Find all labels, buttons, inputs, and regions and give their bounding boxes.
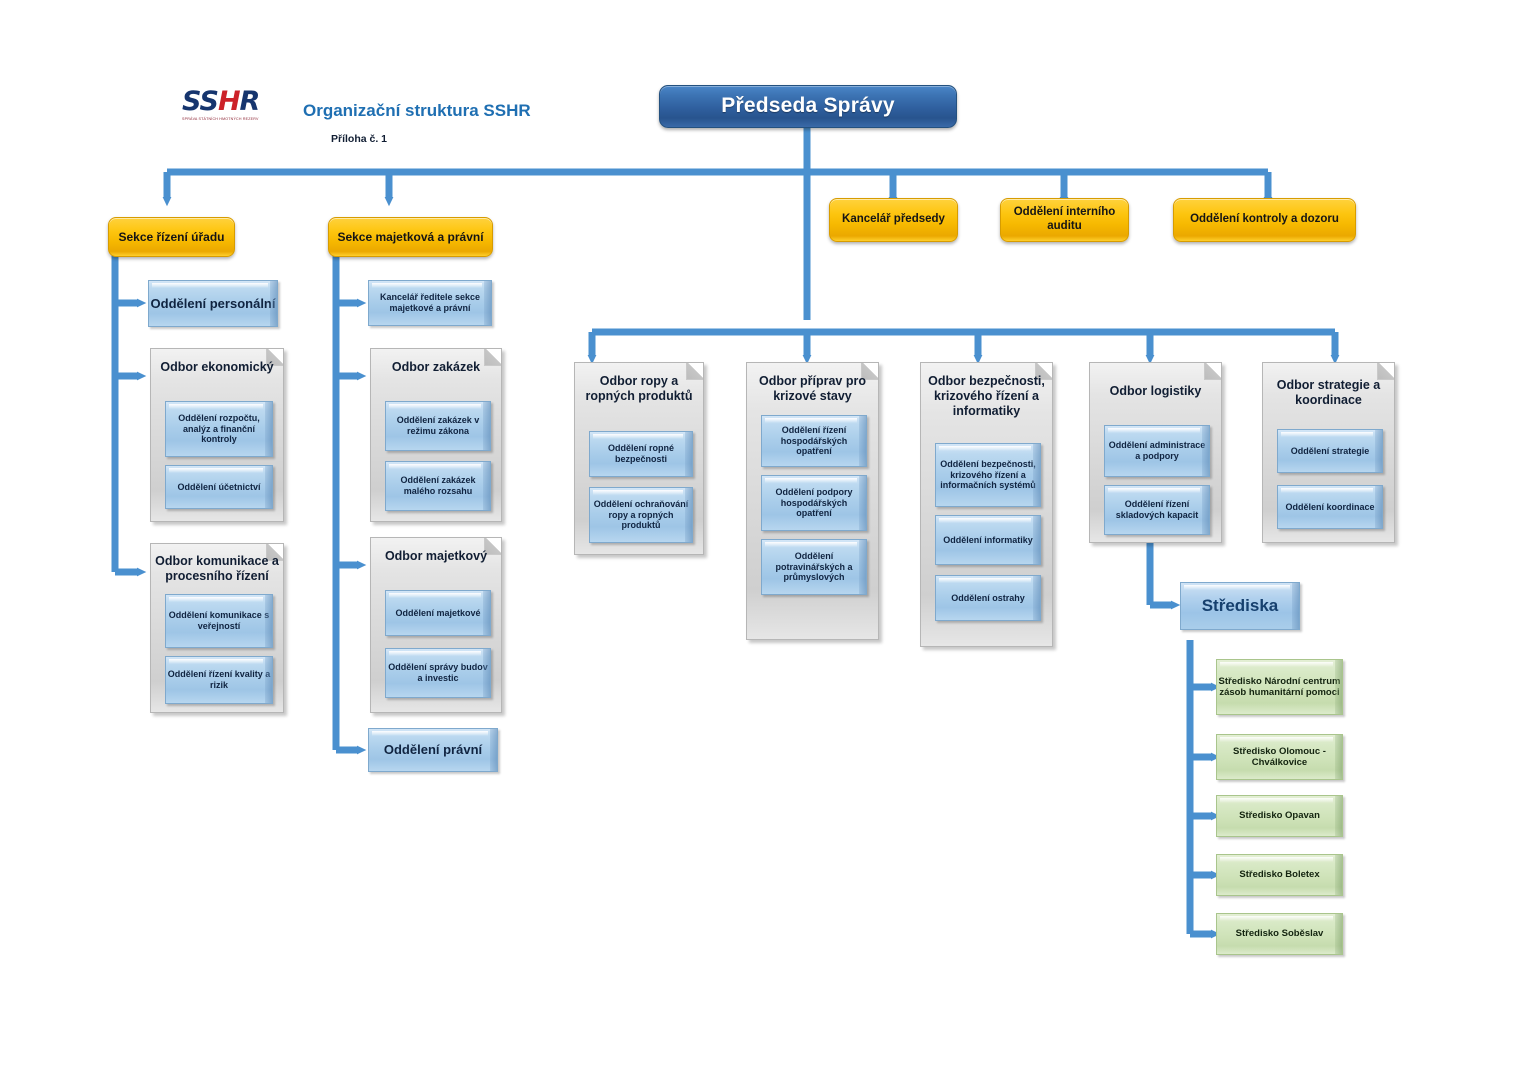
node-label: Středisko Opavan <box>1217 810 1342 821</box>
node-oddeleni-potravinarskych-a-prumyslovych[interactable]: Oddělení potravinářských a průmyslových <box>761 539 867 595</box>
node-label: Předseda Správy <box>660 94 956 119</box>
node-label: Oddělení strategie <box>1278 446 1382 457</box>
node-label: Oddělení personální <box>149 296 277 311</box>
node-oddeleni-rizeni-hospodarskych-opatreni[interactable]: Oddělení řízení hospodářských opatření <box>761 415 867 467</box>
node-predseda-spravy[interactable]: Předseda Správy <box>659 85 957 128</box>
node-stredisko-olomouc[interactable]: Středisko Olomouc - Chválkovice <box>1216 734 1343 780</box>
node-label: Oddělení zakázek malého rozsahu <box>386 475 490 496</box>
node-label: Odbor majetkový <box>371 549 501 564</box>
page-subtitle: Příloha č. 1 <box>331 133 387 145</box>
node-odbor-ekonomicky[interactable]: Odbor ekonomický Oddělení rozpočtu, anal… <box>150 348 284 522</box>
node-kancelar-reditele-sekce[interactable]: Kancelář ředitele sekce majetkové a práv… <box>368 280 492 326</box>
node-oddeleni-rizeni-skladovych-kapacit[interactable]: Oddělení řízení skladových kapacit <box>1104 485 1210 535</box>
node-odbor-logistiky[interactable]: Odbor logistiky Oddělení administrace a … <box>1089 362 1222 543</box>
node-label: Kancelář předsedy <box>830 213 957 227</box>
node-oddeleni-koordinace[interactable]: Oddělení koordinace <box>1277 485 1383 529</box>
node-odbor-komunikace[interactable]: Odbor komunikace a procesního řízení Odd… <box>150 543 284 713</box>
node-label: Středisko Národní centrum zásob humanitá… <box>1217 676 1342 698</box>
node-label: Oddělení řízení kvality a rizik <box>166 669 272 690</box>
fold-corner-icon <box>1204 363 1221 380</box>
node-odbor-ropy[interactable]: Odbor ropy a ropných produktů Oddělení r… <box>574 362 704 555</box>
node-label: Oddělení informatiky <box>936 535 1040 546</box>
node-label: Odbor zakázek <box>371 360 501 375</box>
node-label: Odbor komunikace a procesního řízení <box>151 554 283 584</box>
node-oddeleni-pravni[interactable]: Oddělení právní <box>368 728 498 772</box>
node-oddeleni-strategie[interactable]: Oddělení strategie <box>1277 429 1383 473</box>
node-oddeleni-bezpecnosti-krizoveho-rizeni[interactable]: Oddělení bezpečnosti, krizového řízení a… <box>935 443 1041 507</box>
node-label: Odbor ekonomický <box>151 360 283 375</box>
node-label: Středisko Boletex <box>1217 869 1342 880</box>
node-label: Sekce majetková a právní <box>329 230 492 244</box>
node-label: Oddělení kontroly a dozoru <box>1174 213 1355 227</box>
node-odbor-majetkovy[interactable]: Odbor majetkový Oddělení majetkové Odděl… <box>370 537 502 713</box>
node-odbor-strategie-a-koordinace[interactable]: Odbor strategie a koordinace Oddělení st… <box>1262 362 1395 543</box>
node-oddeleni-komunikace-s-verejnosti[interactable]: Oddělení komunikace s veřejností <box>165 594 273 648</box>
node-oddeleni-zakazek-v-rezimu-zakona[interactable]: Oddělení zakázek v režimu zákona <box>385 401 491 451</box>
node-strediska[interactable]: Střediska <box>1180 582 1300 630</box>
node-sekce-majetkova-a-pravni[interactable]: Sekce majetková a právní <box>328 217 493 257</box>
node-oddeleni-kontroly-a-dozoru[interactable]: Oddělení kontroly a dozoru <box>1173 198 1356 242</box>
node-oddeleni-zakazek-maleho-rozsahu[interactable]: Oddělení zakázek malého rozsahu <box>385 461 491 511</box>
node-label: Oddělení ropné bezpečnosti <box>590 443 692 464</box>
node-label: Oddělení potravinářských a průmyslových <box>762 551 866 583</box>
node-label: Středisko Soběslav <box>1217 928 1342 939</box>
sshr-logo: SSHR SPRÁVA STÁTNÍCH HMOTNÝCH REZERV <box>182 88 278 122</box>
node-odbor-priprav-pro-krizove-stavy[interactable]: Odbor příprav pro krizové stavy Oddělení… <box>746 362 879 640</box>
node-label: Střediska <box>1181 596 1299 616</box>
node-oddeleni-interniho-auditu[interactable]: Oddělení interního auditu <box>1000 198 1129 242</box>
node-label: Oddělení rozpočtu, analýz a finanční kon… <box>166 413 272 445</box>
page-title: Organizační struktura SSHR <box>303 101 531 121</box>
node-label: Oddělení administrace a podpory <box>1105 440 1209 461</box>
node-oddeleni-majetkove[interactable]: Oddělení majetkové <box>385 590 491 636</box>
node-label: Oddělení účetnictví <box>166 482 272 493</box>
node-oddeleni-personalni[interactable]: Oddělení personální <box>148 280 278 327</box>
node-oddeleni-informatiky[interactable]: Oddělení informatiky <box>935 515 1041 565</box>
node-oddeleni-rozpoctu[interactable]: Oddělení rozpočtu, analýz a finanční kon… <box>165 401 273 457</box>
node-stredisko-sobeslav[interactable]: Středisko Soběslav <box>1216 913 1343 955</box>
node-label: Oddělení komunikace s veřejností <box>166 610 272 631</box>
node-label: Odbor příprav pro krizové stavy <box>747 374 878 404</box>
node-label: Oddělení řízení hospodářských opatření <box>762 425 866 457</box>
node-label: Odbor bezpečnosti, krizového řízení a in… <box>921 374 1052 419</box>
node-odbor-zakazek[interactable]: Odbor zakázek Oddělení zakázek v režimu … <box>370 348 502 522</box>
node-label: Oddělení bezpečnosti, krizového řízení a… <box>936 459 1040 491</box>
node-odbor-bezpecnosti[interactable]: Odbor bezpečnosti, krizového řízení a in… <box>920 362 1053 647</box>
node-label: Oddělení majetkové <box>386 608 490 619</box>
node-stredisko-boletex[interactable]: Středisko Boletex <box>1216 854 1343 896</box>
logo-wordmark: SSHR <box>182 88 278 115</box>
node-oddeleni-ochranovani-ropy[interactable]: Oddělení ochraňování ropy a ropných prod… <box>589 487 693 543</box>
node-label: Oddělení zakázek v režimu zákona <box>386 415 490 436</box>
node-oddeleni-ropne-bezpecnosti[interactable]: Oddělení ropné bezpečnosti <box>589 431 693 477</box>
org-chart-canvas: SSHR SPRÁVA STÁTNÍCH HMOTNÝCH REZERV Org… <box>0 0 1536 1086</box>
node-label: Středisko Olomouc - Chválkovice <box>1217 746 1342 768</box>
node-label: Oddělení ochraňování ropy a ropných prod… <box>590 499 692 531</box>
node-oddeleni-ostrahy[interactable]: Oddělení ostrahy <box>935 575 1041 621</box>
node-label: Oddělení podpory hospodářských opatření <box>762 487 866 519</box>
node-oddeleni-rizeni-kvality-a-rizik[interactable]: Oddělení řízení kvality a rizik <box>165 656 273 704</box>
node-label: Odbor ropy a ropných produktů <box>575 374 703 404</box>
node-label: Oddělení správy budov a investic <box>386 662 490 683</box>
node-label: Odbor strategie a koordinace <box>1263 378 1394 408</box>
node-label: Oddělení právní <box>369 742 497 757</box>
node-label: Sekce řízení úřadu <box>109 230 234 244</box>
node-label: Oddělení koordinace <box>1278 502 1382 513</box>
node-label: Oddělení ostrahy <box>936 593 1040 604</box>
node-label: Oddělení řízení skladových kapacit <box>1105 499 1209 520</box>
node-stredisko-ncz[interactable]: Středisko Národní centrum zásob humanitá… <box>1216 659 1343 715</box>
node-sekce-rizeni-uradu[interactable]: Sekce řízení úřadu <box>108 217 235 257</box>
node-oddeleni-spravy-budov[interactable]: Oddělení správy budov a investic <box>385 648 491 698</box>
node-kancelar-predsedy[interactable]: Kancelář předsedy <box>829 198 958 242</box>
node-oddeleni-ucetnictvi[interactable]: Oddělení účetnictví <box>165 465 273 509</box>
node-oddeleni-administrace-a-podpory[interactable]: Oddělení administrace a podpory <box>1104 425 1210 477</box>
logo-tagline: SPRÁVA STÁTNÍCH HMOTNÝCH REZERV <box>182 117 278 121</box>
node-label: Oddělení interního auditu <box>1001 206 1128 233</box>
node-stredisko-opavan[interactable]: Středisko Opavan <box>1216 795 1343 837</box>
node-label: Kancelář ředitele sekce majetkové a práv… <box>369 292 491 313</box>
node-oddeleni-podpory-hospodarskych-opatreni[interactable]: Oddělení podpory hospodářských opatření <box>761 475 867 531</box>
node-label: Odbor logistiky <box>1090 384 1221 399</box>
